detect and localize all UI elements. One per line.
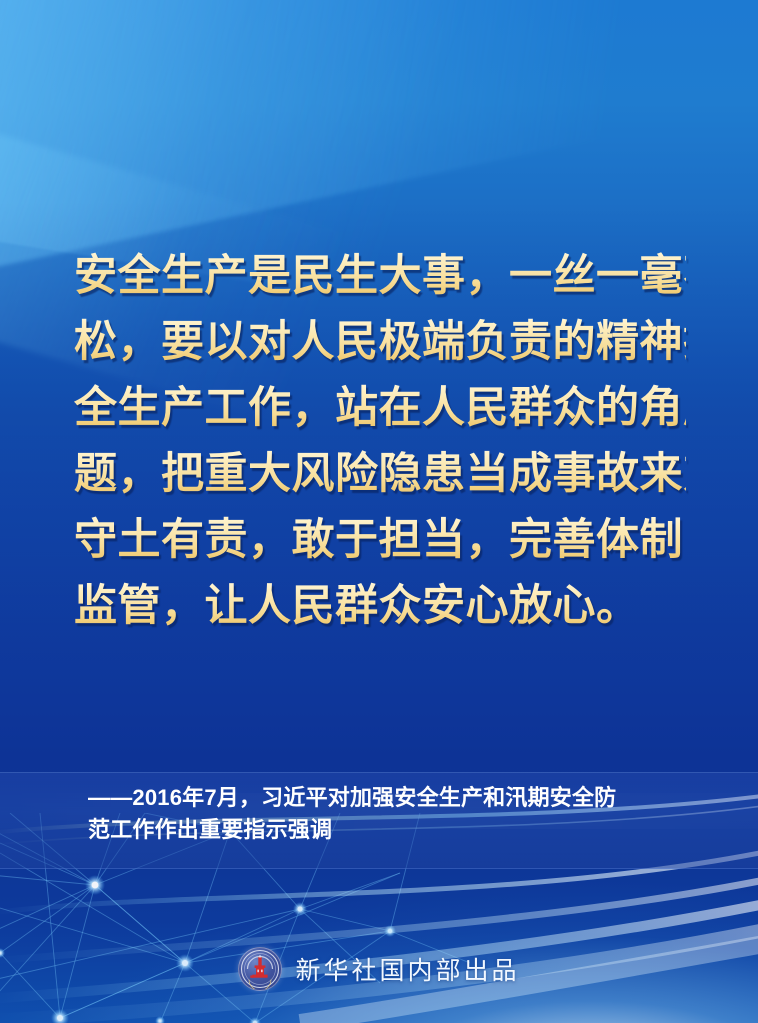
quote-line: 题，把重大风险隐患当成事故来对待， [74,442,686,508]
footer-label: 新华社国内部出品 [295,951,519,987]
quote-line: 松，要以对人民极端负责的精神抓好安 [74,310,686,376]
attribution-line-1: ——2016年7月，习近平对加强安全生产和汛期安全防 [88,782,728,814]
quote-line: 守土有责，敢于担当，完善体制，严格 [74,508,686,574]
attribution-text: ——2016年7月，习近平对加强安全生产和汛期安全防 范工作作出重要指示强调 [88,782,728,846]
quote-line: 安全生产是民生大事，一丝一毫不能放 [74,244,686,310]
xinhua-emblem-icon [238,947,282,991]
footer: 新华社国内部出品 [0,938,758,1000]
quote-block: 安全生产是民生大事，一丝一毫不能放 松，要以对人民极端负责的精神抓好安 全生产工… [74,244,686,640]
attribution-line-2: 范工作作出重要指示强调 [88,814,728,846]
quote-line: 监管，让人民群众安心放心。 [74,574,686,640]
quote-line: 全生产工作，站在人民群众的角度想问 [74,376,686,442]
poster-canvas: 安全生产是民生大事，一丝一毫不能放 松，要以对人民极端负责的精神抓好安 全生产工… [0,0,758,1023]
